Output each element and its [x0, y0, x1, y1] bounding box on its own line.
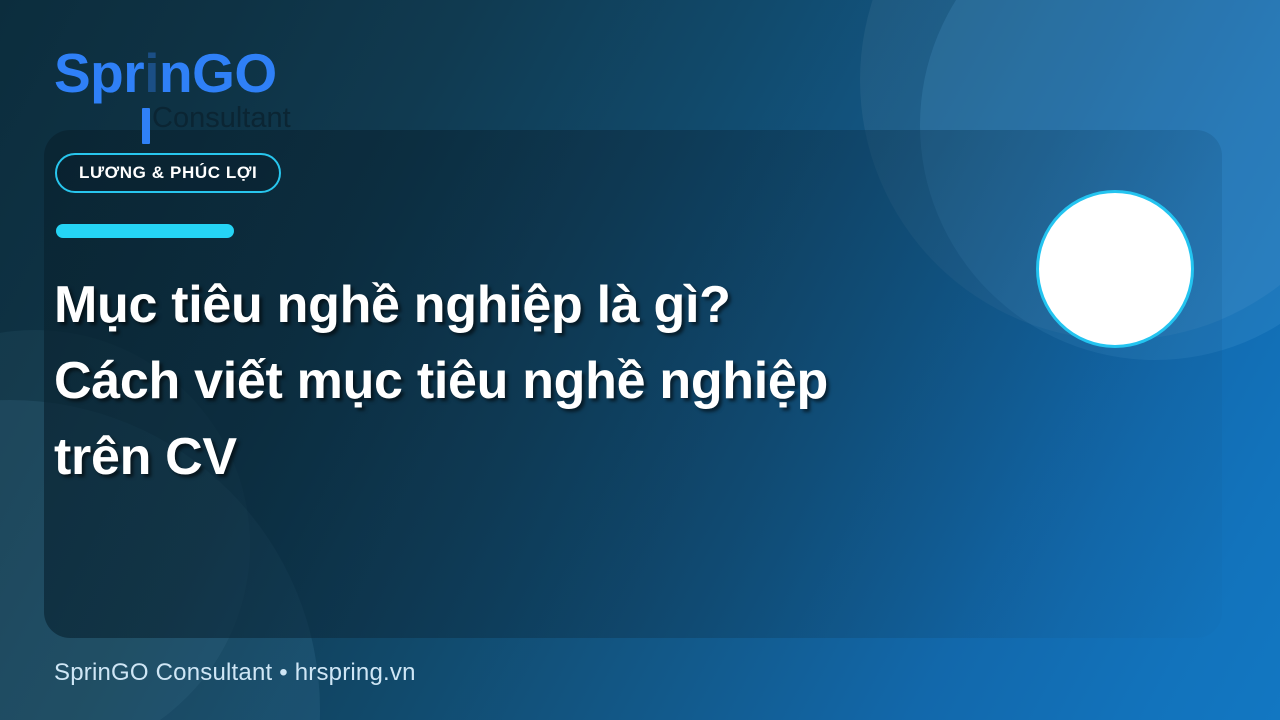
logo-text-part1: Spr — [54, 42, 144, 104]
brand-logo[interactable]: SprinGO Consultant — [54, 46, 314, 126]
category-badge[interactable]: LƯƠNG & PHÚC LỢI — [55, 153, 281, 193]
category-badge-label: LƯƠNG & PHÚC LỢI — [79, 163, 257, 183]
logo-accent-bar-icon — [142, 108, 150, 144]
title-line-3: trên CV — [54, 420, 1014, 496]
accent-divider-bar — [56, 224, 234, 238]
footer: SprinGO Consultant • hrspring.vn — [54, 659, 416, 687]
logo-wordmark: SprinGO — [54, 46, 277, 101]
logo-subtitle: Consultant — [152, 104, 291, 133]
page-title: Mục tiêu nghề nghiệp là gì? Cách viết mụ… — [54, 268, 1014, 496]
logo-text-part2: nGO — [159, 42, 277, 104]
logo-text-i: i — [144, 42, 159, 104]
title-line-1: Mục tiêu nghề nghiệp là gì? — [54, 268, 1014, 344]
banner-canvas: SprinGO Consultant LƯƠNG & PHÚC LỢI Mục … — [0, 0, 1280, 720]
decorative-ring-circle — [1036, 190, 1194, 348]
title-line-2: Cách viết mục tiêu nghề nghiệp — [54, 344, 1014, 420]
footer-attribution: SprinGO Consultant • hrspring.vn — [54, 659, 416, 686]
